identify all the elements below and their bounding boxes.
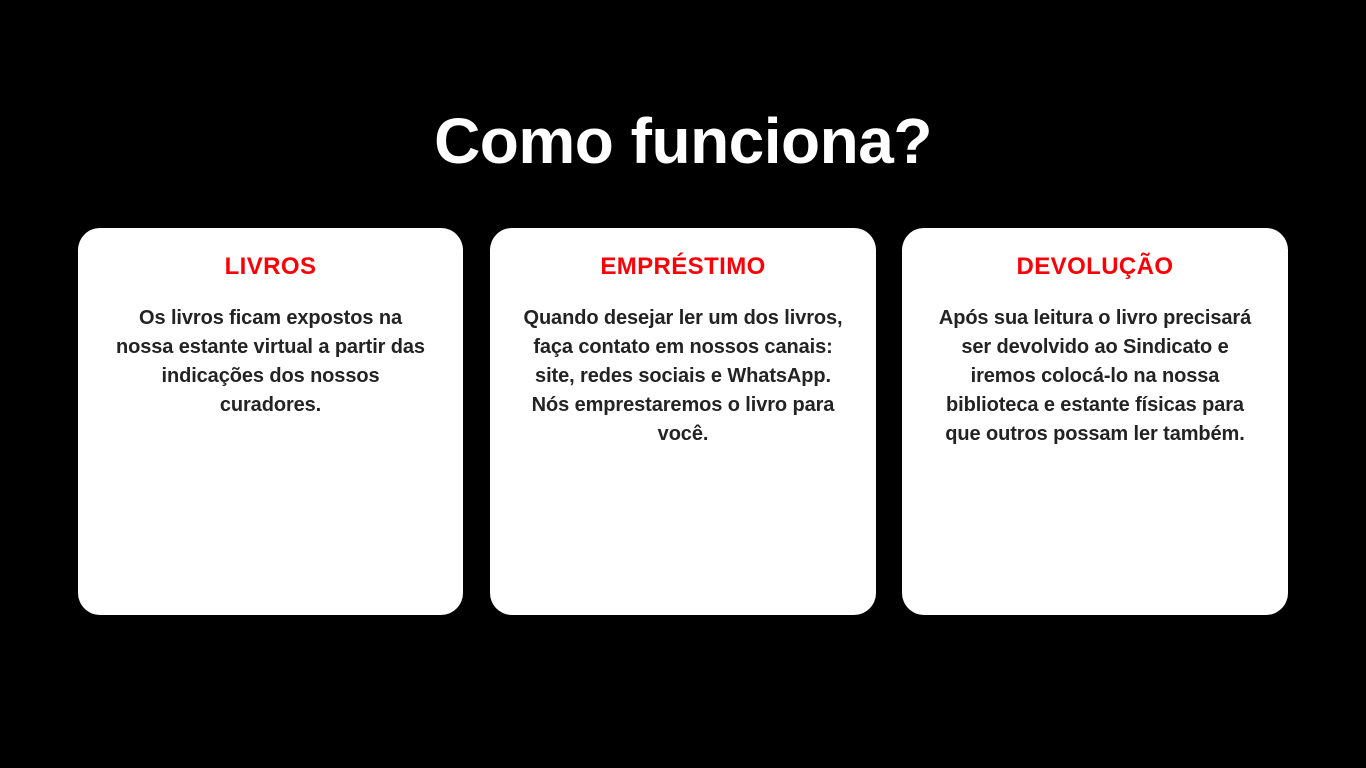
page-title: Como funciona? — [0, 109, 1366, 173]
step-card-heading: LIVROS — [225, 254, 317, 280]
slide-canvas: Como funciona? LIVROS Os livros ficam ex… — [0, 0, 1366, 768]
step-card-emprestimo: EMPRÉSTIMO Quando desejar ler um dos liv… — [490, 228, 876, 615]
step-card-livros: LIVROS Os livros ficam expostos na nossa… — [78, 228, 463, 615]
step-card-body: Após sua leitura o livro precisará ser d… — [932, 304, 1258, 449]
step-card-devolucao: DEVOLUÇÃO Após sua leitura o livro preci… — [902, 228, 1288, 615]
step-card-body: Os livros ficam expostos na nossa estant… — [112, 304, 430, 420]
step-card-heading: EMPRÉSTIMO — [600, 254, 765, 280]
step-card-heading: DEVOLUÇÃO — [1017, 254, 1174, 280]
step-card-body: Quando desejar ler um dos livros, faça c… — [522, 304, 844, 449]
steps-card-row: LIVROS Os livros ficam expostos na nossa… — [78, 228, 1288, 615]
